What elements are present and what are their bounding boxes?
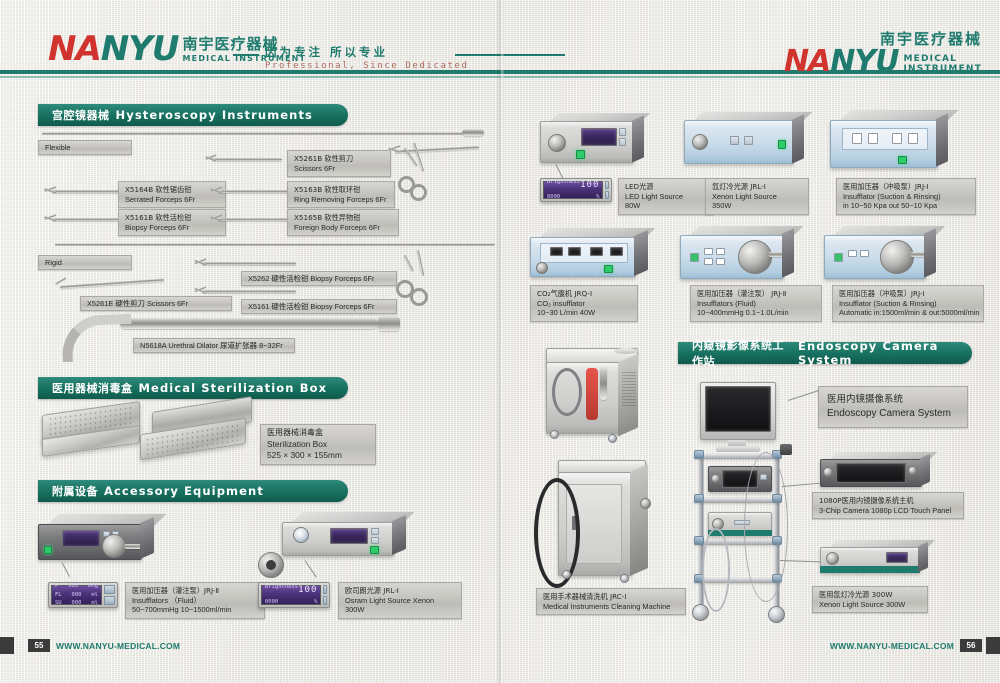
callout-keys-insufflator [104,585,115,605]
caption-x5163b-cn: X5163B 软性取环钳 [294,185,388,195]
banner-sterilization: 医用器械消毒盒 Medical Sterilization Box [38,377,348,399]
callout-screen-led: Brightness100 0000% [540,178,612,202]
caption-endoscopy-camera-system: 医用内镜摄像系统 Endoscopy Camera System [818,386,968,428]
caption-led-light-source: LED光源 LED Light Source 80W [618,178,714,215]
callout-keys-led [605,181,609,199]
callout-key-down-led [605,191,609,199]
caption-x5161b-en: Biopsy Forceps 6Fr [125,223,219,233]
caption-x5161-text: X5161 硬性活检钳 Biopsy Forceps 6Fr [248,302,375,312]
caption-cs2-en: Xenon Light Source 300W [819,600,921,610]
caption-x5163b-en: Ring Removing Forceps 6Fr [294,195,388,205]
leader-line-camera-system [788,390,821,401]
caption-x5161: X5161 硬性活检钳 Biopsy Forceps 6Fr [241,299,397,314]
banner-hysteroscopy: 宫腔镜器械 Hysteroscopy Instruments [38,104,348,126]
caption-rp2-spec: in 10~50 Kpa out 50~10 Kpa [843,201,969,211]
caption-rp4-en: Insufflators (Fluid) [697,299,815,309]
footer-bar-right [986,637,1000,654]
caption-x5165b-cn: X5165B 软性异物钳 [294,213,392,223]
caption-n5618a-text: N5618A Urethral Dilator 尿道扩张器 8~32Fr [140,341,283,351]
caption-sterilization-cn: 医用器械消毒盒 [267,428,369,439]
caption-x5165b-en: Foreign Body Forceps 6Fr [294,223,392,233]
banner-sterilization-en: Medical Sterilization Box [139,381,328,395]
caption-x5161b-cn: X5161B 软性活检钳 [125,213,219,223]
callout-lcd-insufflator: P000mHg FL000ml SU000ml [51,585,102,605]
catalog-page: NANYU 南宇医疗器械 MEDICAL INSTRUMENT 因为专注 所以专… [0,0,1000,683]
leader-line-accessory-1 [62,562,70,577]
lcd-value-2: 100 [298,583,317,597]
banner-camera-en: Endoscopy Camera System [798,339,972,367]
caption-cleaning-machine: 医用手术器械清洗机 JRC-Ⅰ Medical Instruments Clea… [536,588,686,615]
callout-key-down-2 [323,596,327,605]
brand-wordmark-right: NANYU [784,47,899,77]
brand-sub-right-line1: MEDICAL [903,54,982,64]
banner-accessory: 附属设备 Accessory Equipment [38,480,348,502]
page-number-right: 56 [960,639,982,652]
caption-x5164b: X5164B 软性锯齿钳 Serrated Forceps 6Fr [118,181,226,208]
rigid-scope-rod [55,243,495,246]
caption-rp5-cn: 医用加压器（冲吸泵）JRJ-Ⅰ [839,289,977,299]
caption-x5262: X5262 硬性活检钳 Biopsy Forceps 6Fr [241,271,397,286]
group-label-rigid: Rigid [38,255,132,270]
banner-sterilization-cn: 医用器械消毒盒 [52,380,133,396]
brand-slogan: 因为专注 所以专业 Professional, Since Dedicated [265,44,595,71]
caption-rp6-cn: 医用手术器械清洗机 JRC-Ⅰ [543,592,679,602]
caption-rp4-cn: 医用加压器（灌注泵） JRJ-Ⅱ [697,289,815,299]
brand-logo-right: 南宇医疗器械 NANYU MEDICAL INSTRUMENT [784,28,982,77]
lcd-label-1: P [55,582,58,591]
caption-rp1-en: Xenon Light Source [712,192,802,202]
banner-accessory-en: Accessory Equipment [104,484,264,498]
lcd-value-led: 100 [580,178,599,192]
callout-key-up-led [605,181,609,189]
lcd-unit-led: % [596,193,599,202]
caption-insufflator-fluid-right: 医用加压器（灌注泵） JRJ-Ⅱ Insufflators (Fluid) 10… [690,285,822,322]
banner-camera-system: 内窥镜影像系统工作站 Endoscopy Camera System [678,342,972,364]
callout-lcd-led: Brightness100 0000% [543,181,603,199]
lcd-label-led: Brightness [547,178,580,192]
caption-rp4-spec: 10~400mmHg 0.1~1.0L/min [697,308,815,318]
lcd-value-1: 000 [68,582,78,591]
caption-x5164b-en: Serrated Forceps 6Fr [125,195,219,205]
caption-rp5-spec: Automatic in:1500ml/min & out:5000ml/min [839,308,977,318]
caption-insufflator-suction-top: 医用加压器（冲吸泵）JRJ-Ⅰ Insufflator (Suction & R… [836,178,976,215]
caption-rp1-cn: 氙灯冷光源 JRL-Ⅰ [712,182,802,192]
caption-x5165b: X5165B 软性异物钳 Foreign Body Forceps 6Fr [287,209,399,236]
caption-rp1-spec: 350W [712,201,802,211]
lcd-unit-1: mHg [88,582,98,591]
caption-acc1-spec: 50~700mmHg 10~1500ml/min [132,605,258,615]
caption-rp3-en: CO₂ insufflator [537,299,631,309]
caption-cs1-en: 3-Chip Camera 1080p LCD Touch Panel [819,506,957,516]
banner-hysteroscopy-cn: 宫腔镜器械 [52,107,110,123]
caption-xenon-300w: 医用氙灯冷光源 300W Xenon Light Source 300W [812,586,928,613]
page-footer: 55 WWW.NANYU-MEDICAL.COM WWW.NANYU-MEDIC… [0,631,1000,683]
page-fold [497,0,505,683]
banner-camera-cn: 内窥镜影像系统工作站 [692,337,792,369]
flexible-scope-rod [42,132,472,135]
caption-x5261e-text: X5261E 硬性剪刀 Scissors 6Fr [87,299,188,309]
banner-hysteroscopy-en: Hysteroscopy Instruments [116,108,314,122]
leader-line-xenon-detail [780,560,820,562]
caption-acc2-spec: 300W [345,605,455,615]
caption-acc1-en: Insufflators （Fluid） [132,596,258,606]
website-right: WWW.NANYU-MEDICAL.COM [830,639,954,652]
footer-bar-left [0,637,14,654]
caption-sterilization-en: Sterilization Box [267,439,369,450]
caption-x5161b: X5161B 软性活检钳 Biopsy Forceps 6Fr [118,209,226,236]
caption-x5164b-cn: X5164B 软性锯齿钳 [125,185,219,195]
brand-sub-right-line2: INSTRUMENT [903,64,982,74]
caption-x5261b: X5261B 软性剪刀 Scissors 6Fr [287,150,391,177]
caption-cs0-en: Endoscopy Camera System [827,407,959,420]
caption-co2-insufflator: CO₂气腹机 JRQ-Ⅰ CO₂ insufflator 10~30 L/min… [530,285,638,322]
caption-cs1-cn: 1080P医用内镜摄像系统主机 [819,496,957,506]
caption-ccu-1080p: 1080P医用内镜摄像系统主机 3-Chip Camera 1080p LCD … [812,492,964,519]
callout-key-up-2 [323,585,327,594]
brand-wordmark-left: NANYU [48,32,179,66]
callout-key-down-1 [104,596,115,605]
callout-screen-insufflator: P000mHg FL000ml SU000ml [48,582,118,608]
lcd-unit-2: % [314,598,317,607]
caption-cs0-cn: 医用内镜摄像系统 [827,394,959,407]
caption-rp0-en: LED Light Source [625,192,707,202]
caption-x5261b-en: Scissors 6Fr [294,164,384,174]
leader-line-ccu [782,483,820,487]
caption-rp5-en: Insufflator (Suction & Rinsing) [839,299,977,309]
callout-lcd-osram: Brightness100 0000% [261,585,321,605]
caption-rp2-en: Insufflator (Suction & Rinsing) [843,192,969,202]
slogan-cn: 因为专注 所以专业 [265,44,595,60]
slogan-dash-left [233,54,259,56]
leader-line-accessory-2 [305,560,317,577]
caption-rp3-cn: CO₂气腹机 JRQ-Ⅰ [537,289,631,299]
caption-rp2-cn: 医用加压器（冲吸泵）JRJ-Ⅰ [843,182,969,192]
caption-x5262-text: X5262 硬性活检钳 Biopsy Forceps 6Fr [248,274,375,284]
caption-rp0-cn: LED光源 [625,182,707,192]
slogan-dash-right [455,54,565,56]
caption-osram-light: 欧司朗光源 JRL-Ⅰ Osram Light Source Xenon 300… [338,582,462,619]
caption-insufflator-fluid-left: 医用加压器（灌注泵）JRJ-Ⅱ Insufflators （Fluid） 50~… [125,582,265,619]
caption-rp6-en: Medical Instruments Cleaning Machine [543,602,679,612]
caption-cs2-cn: 医用氙灯冷光源 300W [819,590,921,600]
website-left: WWW.NANYU-MEDICAL.COM [56,639,180,652]
caption-rp3-spec: 10~30 L/min 40W [537,308,631,318]
caption-xenon-light-source: 氙灯冷光源 JRL-Ⅰ Xenon Light Source 350W [705,178,809,215]
flexible-scope-handle [462,129,484,136]
group-label-flexible: Flexible [38,140,132,155]
caption-sterilization-spec: 525 × 300 × 155mm [267,450,369,461]
group-label-flexible-text: Flexible [45,143,70,153]
caption-rp0-spec: 80W [625,201,707,211]
slogan-en: Professional, Since Dedicated [265,61,595,71]
callout-keys-osram [323,585,327,605]
banner-accessory-cn: 附属设备 [52,483,98,499]
caption-sterilization-box: 医用器械消毒盒 Sterilization Box 525 × 300 × 15… [260,424,376,465]
caption-x5261b-cn: X5261B 软性剪刀 [294,154,384,164]
adapter-port-icon [266,560,276,570]
callout-screen-osram: Brightness100 0000% [258,582,330,608]
caption-insufflator-auto: 医用加压器（冲吸泵）JRJ-Ⅰ Insufflator (Suction & R… [832,285,984,322]
caption-acc2-en: Osram Light Source Xenon [345,596,455,606]
caption-n5618a: N5618A Urethral Dilator 尿道扩张器 8~32Fr [133,338,295,353]
group-label-rigid-text: Rigid [45,258,62,268]
page-number-left: 55 [28,639,50,652]
caption-x5163b: X5163B 软性取环钳 Ring Removing Forceps 6Fr [287,181,395,208]
lcd-label-2: Brightness [265,583,298,597]
caption-acc1-cn: 医用加压器（灌注泵）JRJ-Ⅱ [132,586,258,596]
caption-acc2-cn: 欧司朗光源 JRL-Ⅰ [345,586,455,596]
caption-x5261e: X5261E 硬性剪刀 Scissors 6Fr [80,296,232,311]
callout-key-up-1 [104,585,115,594]
